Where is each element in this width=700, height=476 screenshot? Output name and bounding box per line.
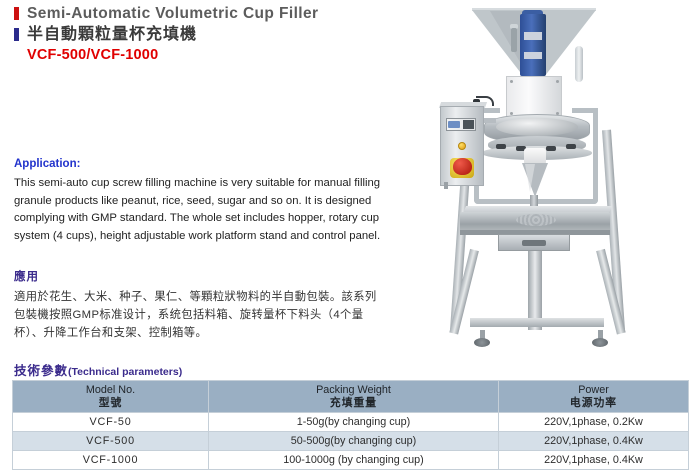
cell-model: VCF-1000 <box>13 451 209 470</box>
application-section-english: Application: This semi-auto cup screw fi… <box>14 158 386 245</box>
tray-emboss-pattern-icon <box>516 214 556 226</box>
application-section-chinese: 應用 適用於花生、大米、种子、果仁、等顆粒狀物料的半自動包裝。該系列包裝機按照G… <box>14 268 386 342</box>
cell-power: 220V,1phase, 0.4Kw <box>499 451 689 470</box>
technical-parameters-heading-chinese: 技術參數 <box>14 364 68 378</box>
leveling-foot-right-icon <box>592 338 608 347</box>
measuring-cup-slot-icon <box>566 144 576 149</box>
title-row-chinese: 半自動顆粒量杯充填機 <box>14 27 414 43</box>
column-header-power: Power 电源功率 <box>499 381 689 413</box>
panel-latch-icon <box>444 182 448 189</box>
column-header-packing-weight-en: Packing Weight <box>209 384 498 397</box>
page-title-english: Semi-Automatic Volumetric Cup Filler <box>27 6 318 22</box>
title-block: Semi-Automatic Volumetric Cup Filler 半自動… <box>14 6 414 63</box>
application-heading-english: Application: <box>14 158 386 170</box>
leveling-foot-left-icon <box>474 338 490 347</box>
square-bullet-icon <box>14 7 19 20</box>
cell-model: VCF-50 <box>13 413 209 432</box>
product-datasheet-page: Semi-Automatic Volumetric Cup Filler 半自動… <box>0 0 700 476</box>
technical-parameters-heading: 技術參數(Technical parameters) <box>14 360 182 379</box>
motor-nameplate-icon <box>524 52 542 59</box>
technical-parameters-heading-english: (Technical parameters) <box>68 366 182 378</box>
table-row: VCF-1000 100-1000g (by changing cup) 220… <box>13 451 689 470</box>
sight-glass-tube-icon <box>575 46 583 82</box>
cell-packing-weight: 100-1000g (by changing cup) <box>209 451 499 470</box>
cell-power: 220V,1phase, 0.4Kw <box>499 432 689 451</box>
housing-bolt-icon <box>510 80 513 83</box>
motor-rod-icon <box>511 28 517 52</box>
square-bullet-icon <box>14 28 19 41</box>
cell-power: 220V,1phase, 0.2Kw <box>499 413 689 432</box>
cell-model: VCF-500 <box>13 432 209 451</box>
column-header-model: Model No. 型號 <box>13 381 209 413</box>
technical-parameters-table: Model No. 型號 Packing Weight 充填重量 Power 电… <box>12 380 689 470</box>
meter-logo-icon <box>448 121 460 128</box>
drawer-handle-icon <box>522 240 546 246</box>
column-header-power-en: Power <box>499 384 688 397</box>
meter-display-icon <box>463 120 474 129</box>
machine-photo <box>412 0 700 372</box>
measuring-cup-slot-icon <box>496 144 506 149</box>
panel-mounting-arm-icon <box>482 118 496 123</box>
cell-packing-weight: 50-500g(by changing cup) <box>209 432 499 451</box>
blue-gear-motor-icon <box>520 14 546 76</box>
stand-crossbar-icon <box>470 318 604 327</box>
model-code: VCF-500/VCF-1000 <box>27 47 414 63</box>
table-row: VCF-500 50-500g(by changing cup) 220V,1p… <box>13 432 689 451</box>
column-header-packing-weight: Packing Weight 充填重量 <box>209 381 499 413</box>
housing-bolt-icon <box>556 80 559 83</box>
cell-packing-weight: 1-50g(by changing cup) <box>209 413 499 432</box>
emergency-stop-button-icon <box>453 158 472 175</box>
column-header-packing-weight-cn: 充填重量 <box>209 397 498 410</box>
table-header-row: Model No. 型號 Packing Weight 充填重量 Power 电… <box>13 381 689 413</box>
indicator-lamp-icon <box>458 142 466 150</box>
discharge-cone-highlight-icon <box>525 164 535 192</box>
column-header-model-cn: 型號 <box>13 397 208 410</box>
application-heading-chinese: 應用 <box>14 268 386 284</box>
column-header-power-cn: 电源功率 <box>499 397 688 410</box>
application-body-chinese: 適用於花生、大米、种子、果仁、等顆粒狀物料的半自動包裝。該系列包裝機按照GMP标… <box>14 288 386 342</box>
title-row-english: Semi-Automatic Volumetric Cup Filler <box>14 6 414 22</box>
application-body-english: This semi-auto cup screw filling machine… <box>14 175 386 245</box>
measuring-cup-slot-icon <box>546 146 556 151</box>
table-row: VCF-50 1-50g(by changing cup) 220V,1phas… <box>13 413 689 432</box>
column-header-model-en: Model No. <box>13 384 208 397</box>
motor-nameplate-icon <box>524 32 542 40</box>
carousel-inner-ring-icon <box>496 118 578 136</box>
page-title-chinese: 半自動顆粒量杯充填機 <box>27 27 197 43</box>
